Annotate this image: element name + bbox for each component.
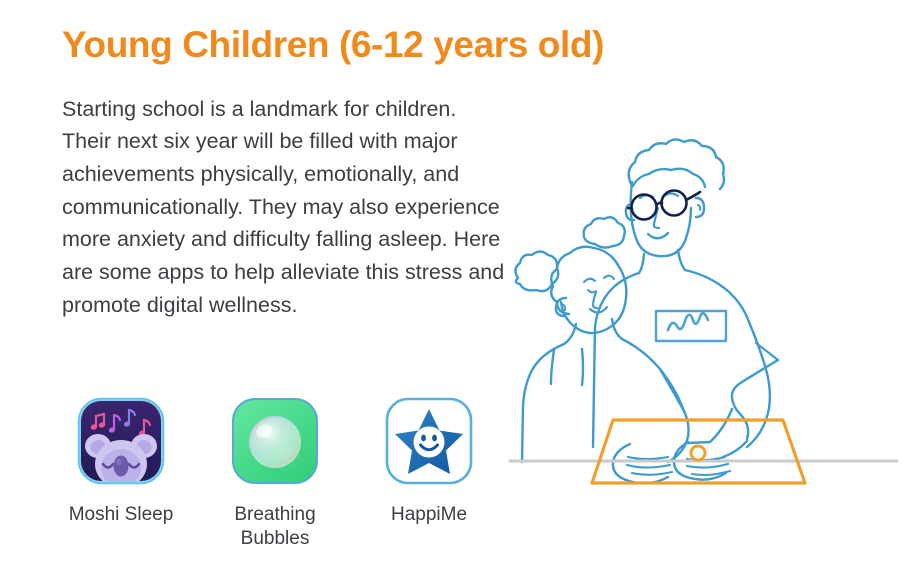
adult-right-arm-inner [732,360,778,439]
moshi-sleep-koala-icon[interactable] [76,396,166,486]
child-torso-left [522,344,564,462]
app-label-moshi-sleep: Moshi Sleep [69,503,174,527]
app-item-moshi-sleep[interactable]: Moshi Sleep [62,396,180,527]
adult-and-child-at-laptop-line-art [492,112,912,512]
laptop [592,420,805,483]
adult-hair [629,139,724,189]
adult-torso-right [685,270,749,322]
app-item-happime[interactable]: HappiMe [370,396,488,527]
breathing-bubbles-icon[interactable] [230,396,320,486]
child-top-puff [584,217,625,247]
app-label-happime: HappiMe [391,503,467,527]
app-item-breathing-bubbles[interactable]: Breathing Bubbles [216,396,334,552]
adult-right-arm-outer [747,322,770,447]
adult-glasses [628,191,700,220]
app-label-breathing-bubbles: Breathing Bubbles [219,503,331,552]
body-paragraph: Starting school is a landmark for childr… [62,93,507,322]
app-list: Moshi Sleep [62,396,512,552]
infographic-page: Young Children (6-12 years old) Starting… [0,0,920,585]
text-column: Young Children (6-12 years old) Starting… [62,24,512,321]
happime-star-icon[interactable] [384,396,474,486]
child-torso-right [622,339,684,411]
tshirt-graphic-badge [656,311,726,341]
page-title: Young Children (6-12 years old) [62,24,512,67]
